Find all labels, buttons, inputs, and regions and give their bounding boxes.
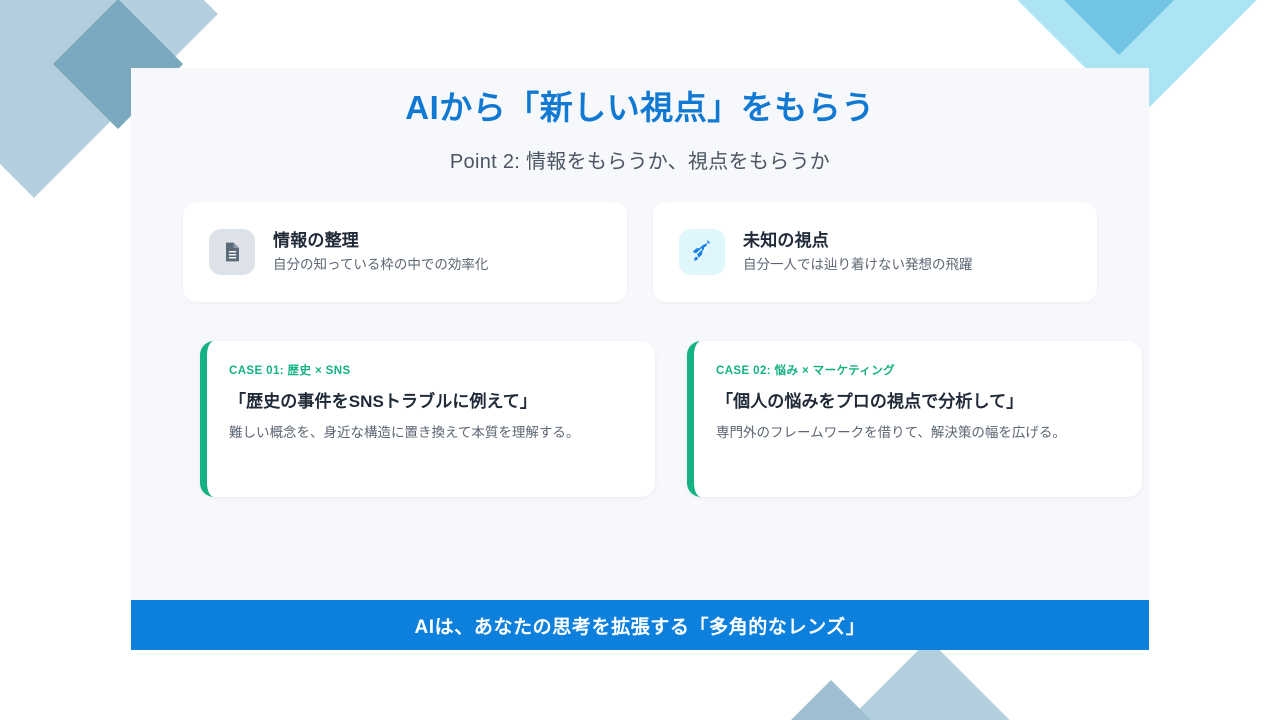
case-description: 難しい概念を、身近な構造に置き換えて本質を理解する。 <box>229 424 629 443</box>
info-card-description: 自分の知っている枠の中での効率化 <box>273 256 488 274</box>
slide-canvas: AIから「新しい視点」をもらう Point 2: 情報をもらうか、視点をもらうか… <box>0 0 1280 720</box>
info-card-unknown-perspective[interactable]: 未知の視点 自分一人では辿り着けない発想の飛躍 <box>653 202 1097 302</box>
case-card-02[interactable]: CASE 02: 悩み × マーケティング 「個人の悩みをプロの視点で分析して」… <box>687 341 1142 497</box>
case-label: CASE 02: 悩み × マーケティング <box>716 365 1116 379</box>
document-icon <box>209 229 255 275</box>
case-title: 「歴史の事件をSNSトラブルに例えて」 <box>229 391 629 414</box>
info-card-title: 情報の整理 <box>273 230 488 252</box>
info-card-text: 未知の視点 自分一人では辿り着けない発想の飛躍 <box>743 230 973 274</box>
info-card-text: 情報の整理 自分の知っている枠の中での効率化 <box>273 230 488 274</box>
case-title: 「個人の悩みをプロの視点で分析して」 <box>716 391 1116 414</box>
case-description: 専門外のフレームワークを借りて、解決策の幅を広げる。 <box>716 424 1116 443</box>
info-card-group: 情報の整理 自分の知っている枠の中での効率化 未知の視点 自分一人では辿り着けな… <box>183 202 1097 302</box>
info-card-description: 自分一人では辿り着けない発想の飛躍 <box>743 256 973 274</box>
page-subtitle: Point 2: 情報をもらうか、視点をもらうか <box>131 131 1149 174</box>
info-card-information-organization[interactable]: 情報の整理 自分の知っている枠の中での効率化 <box>183 202 627 302</box>
info-card-title: 未知の視点 <box>743 230 973 252</box>
decor-square-top-right-small <box>1061 0 1177 55</box>
slide-panel: AIから「新しい視点」をもらう Point 2: 情報をもらうか、視点をもらうか… <box>131 68 1149 600</box>
case-label: CASE 01: 歴史 × SNS <box>229 365 629 379</box>
decor-square-bottom-right-small <box>756 680 906 720</box>
page-title: AIから「新しい視点」をもらう <box>131 68 1149 131</box>
footer-banner: AIは、あなたの思考を拡張する「多角的なレンズ」 <box>131 600 1149 650</box>
decor-square-bottom-right-large <box>807 639 1050 720</box>
rocket-icon <box>679 229 725 275</box>
case-card-group: CASE 01: 歴史 × SNS 「歴史の事件をSNSトラブルに例えて」 難し… <box>200 341 1142 497</box>
case-card-01[interactable]: CASE 01: 歴史 × SNS 「歴史の事件をSNSトラブルに例えて」 難し… <box>200 341 655 497</box>
footer-banner-text: AIは、あなたの思考を拡張する「多角的なレンズ」 <box>414 612 865 639</box>
